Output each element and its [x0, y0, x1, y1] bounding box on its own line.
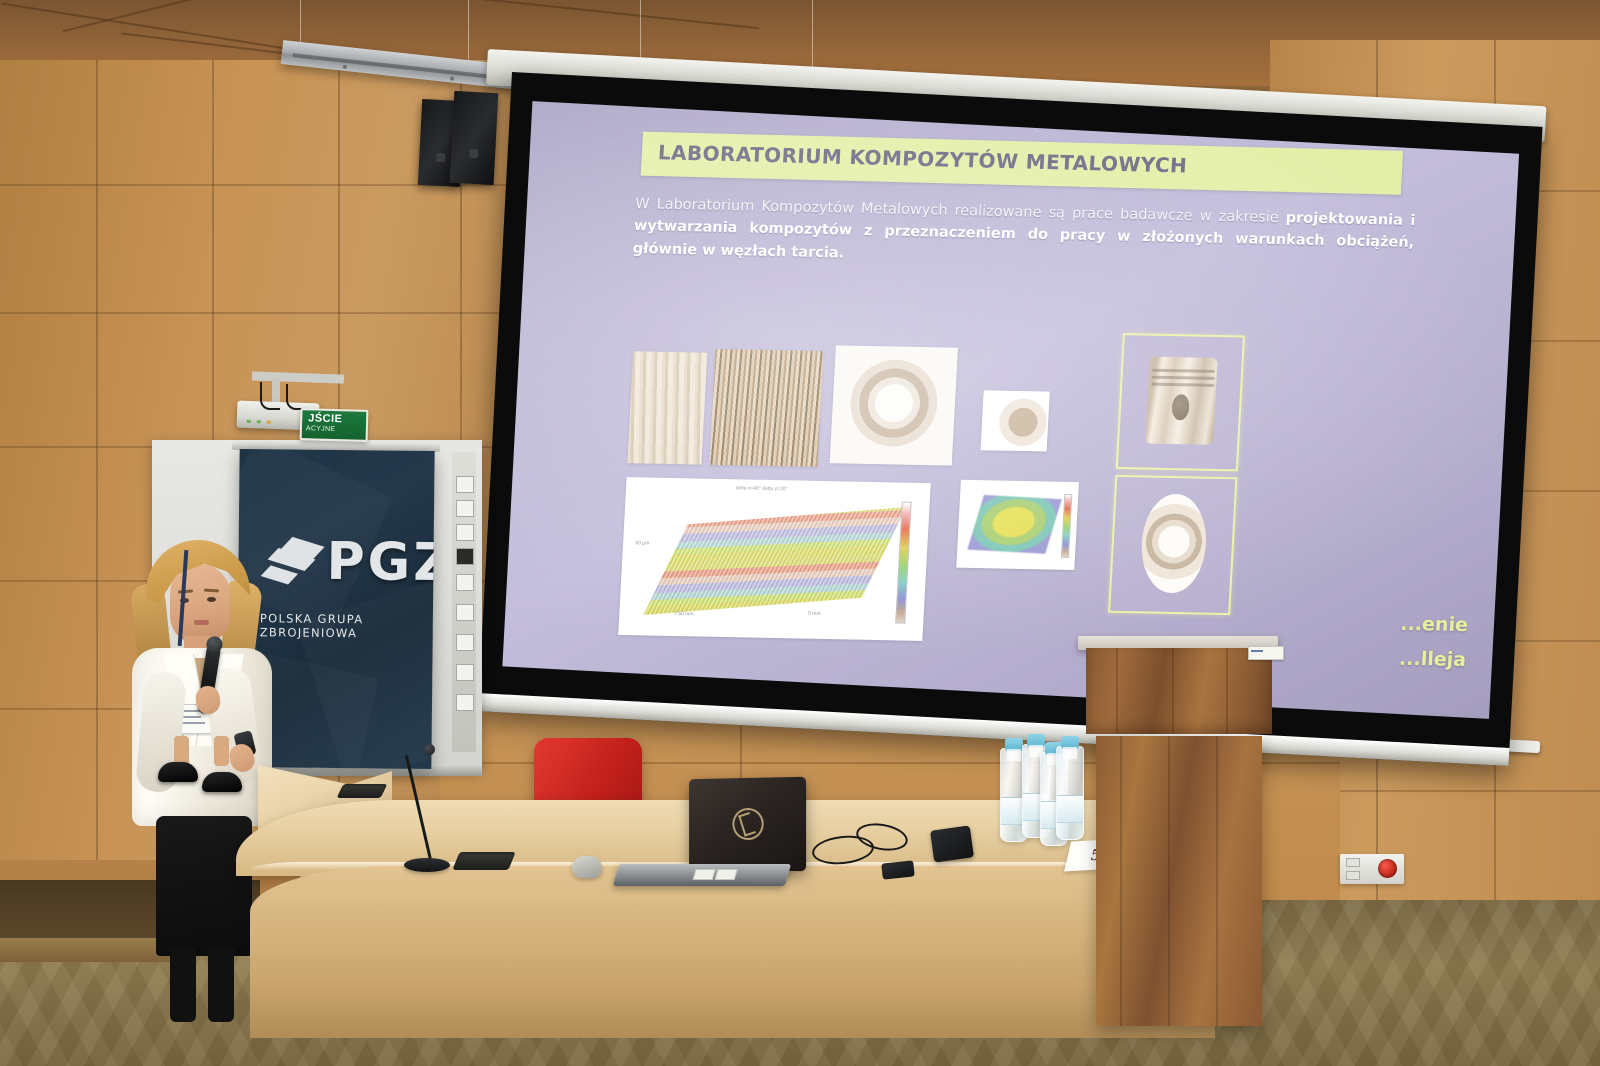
whiteboard-button[interactable] [456, 476, 474, 493]
surface-map-blob [967, 495, 1061, 553]
surface-plot-zlabel: 50 µm [635, 540, 649, 546]
wall-speaker-right [450, 91, 499, 185]
exit-sign-line-1: JŚCIE [308, 412, 343, 425]
surface-plot-mesh [643, 507, 905, 614]
slide-image-bearing-ring [830, 345, 958, 465]
slide-content: LABORATORIUM KOMPOZYTÓW METALOWYCH W Lab… [502, 101, 1519, 719]
slide-image-fiber-microstructure-1 [627, 351, 707, 464]
cable-adapter [881, 860, 914, 879]
conference-phone[interactable] [930, 825, 974, 862]
exit-sign-line-2: ACYJNE [306, 425, 336, 433]
data-port[interactable] [1346, 858, 1360, 867]
laptop-keyboard-base[interactable] [613, 864, 791, 886]
slide-image-composite-sample [981, 390, 1050, 451]
whiteboard-button[interactable] [456, 548, 474, 565]
projector-cable [260, 382, 280, 410]
water-bottle[interactable] [1056, 746, 1084, 840]
lectern-upper-panel [1086, 648, 1272, 734]
piston-graphic [1145, 357, 1218, 445]
slide-image-surface-topography-3d: delta x=40° delta y=20° 50 µm 7.50 mm 5 … [618, 477, 931, 641]
whiteboard-button[interactable] [456, 604, 474, 621]
presenter-shoe-right [202, 772, 242, 792]
pgz-brand-text: PGZ [326, 532, 434, 593]
surface-plot-annotation-delta: delta x=40° delta y=20° [735, 486, 787, 493]
slide-image-engine-piston [1116, 333, 1245, 471]
whiteboard-control-strip[interactable] [452, 452, 476, 752]
whiteboard-button[interactable] [456, 664, 474, 681]
whiteboard-button[interactable] [456, 634, 474, 651]
laptop-sticker [715, 869, 738, 880]
computer-mouse[interactable] [572, 856, 602, 878]
whiteboard-button[interactable] [456, 574, 474, 591]
desk-front-panel [250, 866, 1215, 1038]
wall-socket-panel[interactable] [1340, 854, 1404, 884]
surface-plot-ylabel: 5 mm [808, 611, 821, 617]
whiteboard-button[interactable] [456, 524, 474, 541]
power-socket-icon[interactable] [1378, 859, 1397, 878]
surface-plot-xlabel: 7.50 mm [674, 611, 694, 617]
surface-map-colorbar [1061, 494, 1072, 558]
presenter-trousers [156, 816, 252, 956]
projection-screen: LABORATORIUM KOMPOZYTÓW METALOWYCH W Lab… [478, 72, 1543, 766]
lectern-nameplate [1248, 646, 1284, 660]
gooseneck-mic-base[interactable] [404, 858, 450, 872]
slide-image-surface-map-2d [956, 480, 1079, 570]
desk-cable-port[interactable] [337, 784, 388, 798]
light-suspension-wire [468, 0, 469, 62]
whiteboard-button[interactable] [456, 694, 474, 711]
whiteboard-button[interactable] [456, 500, 474, 517]
emergency-exit-sign: JŚCIE ACYJNE [300, 408, 369, 442]
desk-cable-port[interactable] [452, 852, 515, 870]
slide-image-bushing-ring [1108, 475, 1237, 615]
presenter-shoe-left [158, 762, 198, 782]
laptop-sticker [693, 869, 716, 880]
projected-slide: LABORATORIUM KOMPOZYTÓW METALOWYCH W Lab… [502, 101, 1519, 719]
slide-body-text: W Laboratorium Kompozytów Metalowych rea… [632, 193, 1416, 277]
bushing-graphic [1140, 494, 1209, 594]
presenter-ankle-right [214, 736, 229, 766]
dell-logo-icon [728, 804, 767, 844]
projector-cable [286, 384, 302, 410]
slide-image-fiber-microstructure-2 [709, 349, 823, 467]
lectern-body [1096, 736, 1262, 1026]
laptop-lid [689, 777, 806, 872]
data-port[interactable] [1346, 871, 1360, 880]
gooseneck-mic-head [424, 744, 435, 755]
conference-hall-photo: LABORATORIUM KOMPOZYTÓW METALOWYCH W Lab… [0, 0, 1600, 1066]
light-suspension-wire [300, 0, 301, 48]
